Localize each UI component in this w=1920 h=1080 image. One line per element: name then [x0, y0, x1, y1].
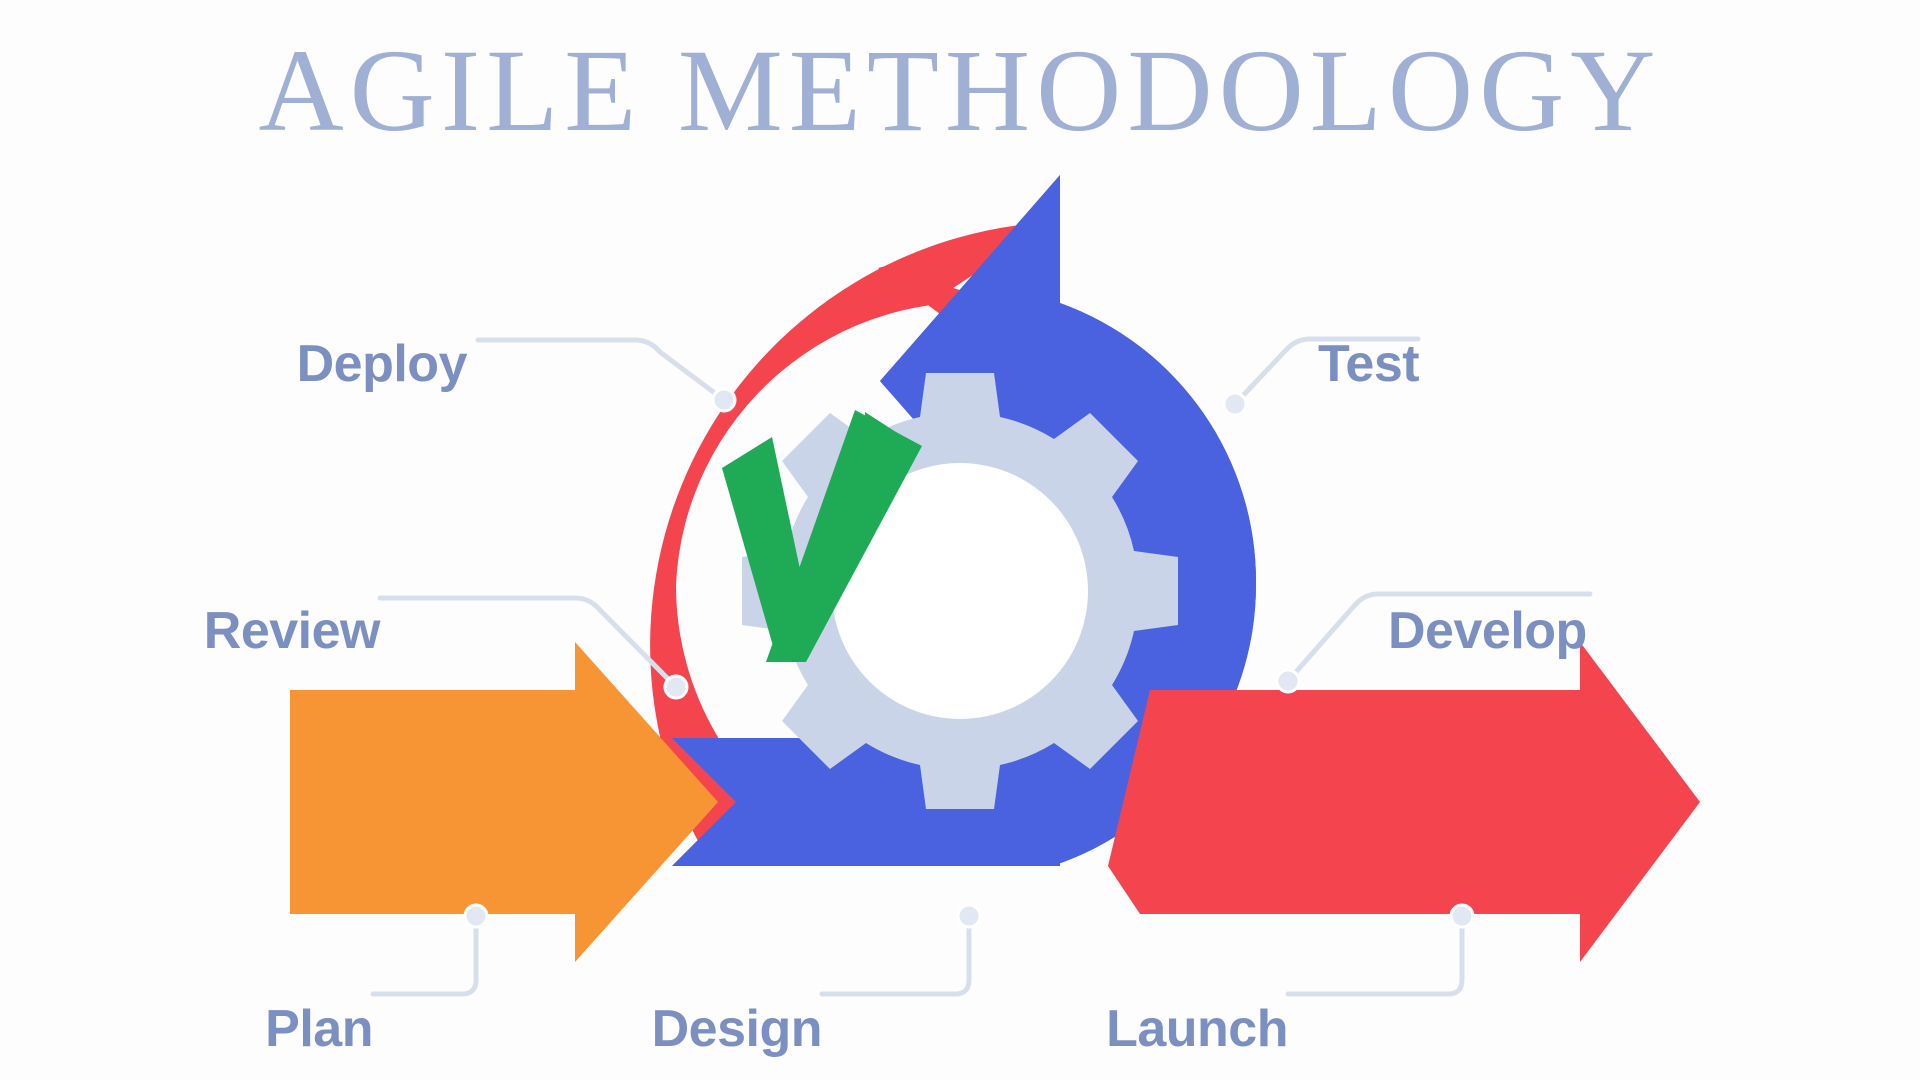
agile-methodology-diagram: AGILE METHODOLOGY: [0, 0, 1920, 1080]
connector-dot-design: [958, 905, 980, 927]
connector-dot-deploy: [713, 389, 735, 411]
step-label-design[interactable]: Design: [652, 1000, 822, 1058]
connector-dot-plan: [465, 905, 487, 927]
connector-launch: [1288, 905, 1473, 994]
step-label-plan[interactable]: Plan: [265, 1000, 373, 1058]
step-label-launch[interactable]: Launch: [1106, 1000, 1288, 1058]
connector-deploy: [478, 340, 735, 411]
step-label-test[interactable]: Test: [1318, 335, 1419, 393]
page-title: AGILE METHODOLOGY: [258, 25, 1661, 156]
step-label-develop[interactable]: Develop: [1388, 602, 1587, 660]
arrow-red-launch[interactable]: [1108, 642, 1700, 962]
connector-review: [380, 598, 687, 698]
connector-dot-launch: [1451, 905, 1473, 927]
diagram-canvas: AGILE METHODOLOGY: [0, 0, 1920, 1080]
connector-dot-test: [1224, 393, 1246, 415]
connector-design: [822, 905, 980, 994]
step-label-deploy[interactable]: Deploy: [297, 335, 468, 393]
step-label-review[interactable]: Review: [204, 602, 381, 660]
connector-plan: [373, 905, 487, 994]
connector-dot-develop: [1277, 670, 1299, 692]
connector-dot-review: [665, 676, 687, 698]
